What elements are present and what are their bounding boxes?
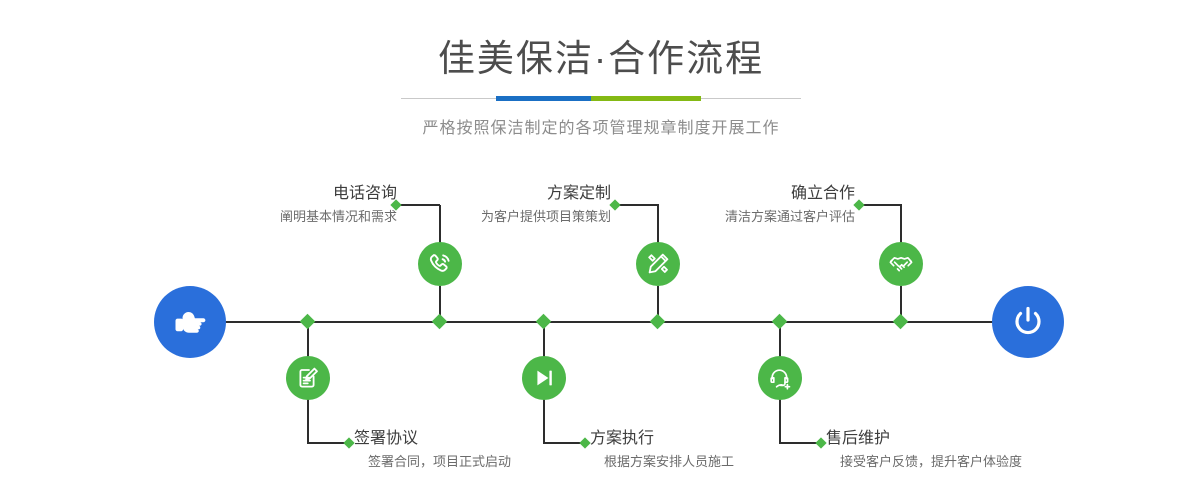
step-plan-execution-label: 方案执行 根据方案安排人员施工 (590, 430, 805, 470)
step-plan-execution-icon-circle[interactable] (522, 356, 566, 400)
timeline-start-node (154, 286, 226, 358)
diamond-step-3-label (609, 199, 620, 210)
step-establish-cooperation-label: 确立合作 清洁方案通过客户评估 (692, 185, 855, 225)
step-establish-cooperation-title: 确立合作 (692, 185, 855, 203)
step-plan-customization-icon-circle[interactable] (636, 242, 680, 286)
step-sign-agreement-label: 签署协议 签署合同，项目正式启动 (354, 430, 574, 470)
diamond-step-1-axis (432, 314, 448, 330)
step-after-sales-desc: 接受客户反馈，提升客户体验度 (826, 448, 1076, 470)
process-timeline: 电话咨询 阐明基本情况和需求 签署协议 签署合同，项目正式启动 (0, 0, 1202, 502)
step-establish-cooperation-desc: 清洁方案通过客户评估 (692, 203, 855, 225)
step-sign-agreement-icon-circle[interactable] (286, 356, 330, 400)
play-forward-icon (531, 365, 557, 391)
timeline-axis (160, 321, 1042, 323)
flow-infographic-page: 佳美保洁·合作流程 严格按照保洁制定的各项管理规章制度开展工作 (0, 0, 1202, 502)
connector-step-3-stem (657, 205, 659, 243)
connector-step-1-horizontal (398, 204, 440, 206)
power-icon (1007, 301, 1049, 343)
step-plan-customization-label: 方案定制 为客户提供项目策策划 (448, 185, 611, 225)
connector-step-1-stem (439, 205, 441, 243)
connector-step-2-stem (307, 398, 309, 443)
diamond-step-2-axis (300, 314, 316, 330)
step-after-sales-label: 售后维护 接受客户反馈，提升客户体验度 (826, 430, 1076, 470)
handshake-icon (888, 251, 914, 277)
diamond-step-5-axis (893, 314, 909, 330)
connector-step-3-horizontal (617, 204, 659, 206)
step-phone-consult-title: 电话咨询 (232, 185, 397, 203)
step-plan-execution-desc: 根据方案安排人员施工 (590, 448, 805, 470)
document-edit-icon (295, 365, 321, 391)
connector-step-5-stem (900, 205, 902, 243)
diamond-step-6-axis (772, 314, 788, 330)
step-phone-consult-desc: 阐明基本情况和需求 (232, 203, 397, 225)
diamond-step-5-label (853, 199, 864, 210)
step-phone-consult-label: 电话咨询 阐明基本情况和需求 (232, 185, 397, 225)
step-plan-customization-desc: 为客户提供项目策策划 (448, 203, 611, 225)
step-phone-consult-icon-circle[interactable] (418, 242, 462, 286)
timeline-end-node (992, 286, 1064, 358)
pencil-ruler-icon (645, 251, 671, 277)
step-plan-customization-title: 方案定制 (448, 185, 611, 203)
diamond-step-3-axis (650, 314, 666, 330)
step-after-sales-title: 售后维护 (826, 430, 1076, 448)
step-establish-cooperation-icon-circle[interactable] (879, 242, 923, 286)
step-sign-agreement-desc: 签署合同，项目正式启动 (354, 448, 574, 470)
diamond-step-4-label (579, 437, 590, 448)
diamond-step-6-label (815, 437, 826, 448)
headset-support-icon (767, 365, 793, 391)
step-plan-execution-title: 方案执行 (590, 430, 805, 448)
step-after-sales-icon-circle[interactable] (758, 356, 802, 400)
connector-step-5-horizontal (861, 204, 902, 206)
diamond-step-4-axis (536, 314, 552, 330)
step-sign-agreement-title: 签署协议 (354, 430, 574, 448)
phone-call-icon (427, 251, 453, 277)
pointing-hand-icon (170, 302, 210, 342)
diamond-step-2-label (343, 437, 354, 448)
